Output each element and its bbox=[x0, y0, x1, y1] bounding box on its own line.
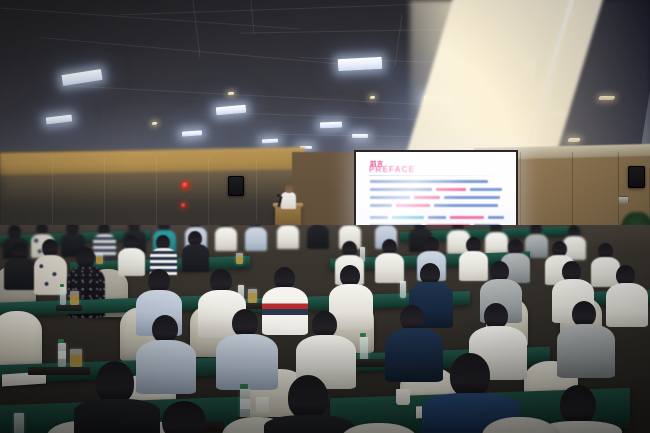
paper-cup bbox=[256, 397, 269, 413]
sprinkler-fitting bbox=[228, 92, 235, 95]
slide-text-line bbox=[370, 180, 488, 183]
beer-glass bbox=[70, 349, 82, 367]
slide-text-highlight bbox=[414, 196, 440, 199]
presenter-torso bbox=[281, 192, 296, 209]
water-bottle bbox=[60, 287, 66, 305]
water-bottle bbox=[360, 337, 368, 361]
banquet-chair bbox=[0, 311, 42, 369]
slide-text-line bbox=[370, 188, 432, 191]
ceiling-light-panel bbox=[352, 134, 368, 138]
ceiling-light-panel bbox=[61, 69, 102, 86]
slide-title-en: PREFACE bbox=[369, 165, 415, 174]
slide-text-line bbox=[470, 188, 502, 191]
wall-speaker-icon bbox=[628, 166, 645, 188]
conference-hall-photo: 前言 PREFACE bbox=[0, 0, 650, 433]
slide-text-line bbox=[370, 216, 388, 219]
table-tray bbox=[56, 305, 82, 311]
table-tray bbox=[54, 367, 90, 375]
ceiling-seam bbox=[251, 0, 255, 34]
bottle-label bbox=[58, 351, 66, 359]
slide-text-line bbox=[444, 196, 500, 199]
slide-text-highlight bbox=[450, 216, 484, 219]
slide-text-line bbox=[488, 216, 504, 219]
bottle-cap bbox=[60, 284, 64, 287]
slide-text-highlight bbox=[392, 216, 424, 219]
drink-glass bbox=[248, 289, 257, 303]
audience-area bbox=[0, 225, 650, 433]
bottle-cap bbox=[58, 339, 64, 343]
left-wall-glow bbox=[0, 158, 310, 206]
slide-text-line bbox=[370, 204, 392, 207]
ceiling bbox=[0, 0, 650, 168]
ceiling-seam bbox=[41, 37, 380, 68]
bottle-cap bbox=[360, 333, 366, 337]
bottle-label bbox=[240, 399, 250, 409]
ceiling-light-panel bbox=[262, 139, 278, 144]
wall-control-panel bbox=[618, 196, 629, 204]
cove-light-wash bbox=[410, 0, 650, 168]
slide-text-line bbox=[428, 216, 446, 219]
ceiling-light-panel bbox=[338, 57, 383, 71]
paper-cup bbox=[396, 389, 410, 405]
ceiling-seam bbox=[192, 0, 200, 58]
wall-speaker-icon bbox=[228, 176, 244, 196]
drink-glass bbox=[96, 253, 103, 264]
presenter-head bbox=[285, 184, 293, 193]
drink-glass bbox=[70, 291, 79, 305]
slide-text-line bbox=[434, 204, 498, 207]
ceiling-light-panel bbox=[320, 122, 342, 129]
water-bottle bbox=[400, 281, 406, 298]
microphone-head bbox=[277, 194, 280, 197]
ceiling-seam bbox=[0, 8, 299, 30]
bottle-cap bbox=[240, 384, 248, 389]
fire-alarm-icon bbox=[182, 182, 189, 189]
wall-panel-seam bbox=[256, 160, 257, 220]
fire-alarm-icon bbox=[181, 203, 186, 208]
drink-glass bbox=[236, 253, 243, 264]
slide-text-highlight bbox=[436, 188, 466, 191]
slide-text-highlight bbox=[396, 204, 430, 207]
water-bottle bbox=[14, 413, 24, 433]
slide-text-line bbox=[370, 196, 410, 199]
slide-divider bbox=[369, 175, 501, 176]
